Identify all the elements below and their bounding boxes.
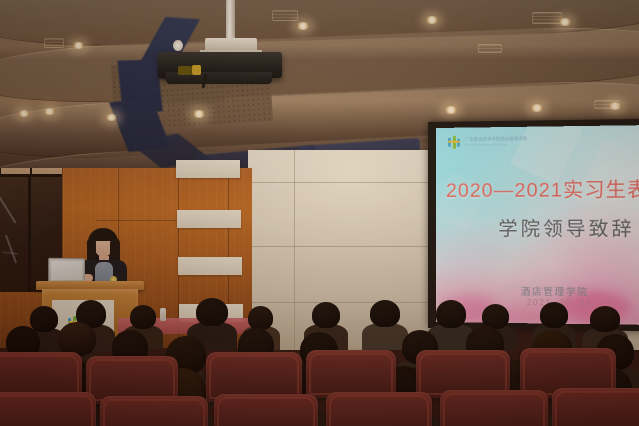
projection-screen[interactable]: 广东职业技术学院酒店管理学院 Hotel Management College … <box>436 125 639 325</box>
beige-wall <box>248 150 440 350</box>
auditorium-seat-rim <box>309 353 393 395</box>
glass-frame <box>0 174 62 177</box>
downlight <box>72 42 85 49</box>
slide-logo-text-en: Hotel Management College <box>465 142 527 147</box>
auditorium-seat-rim <box>329 395 429 426</box>
slide-organization: 酒店管理学院 <box>521 284 589 299</box>
auditorium-seat-rim <box>419 353 507 395</box>
glass-reflection <box>0 189 16 224</box>
ceiling-vent <box>532 12 562 24</box>
wall-seam <box>248 302 440 303</box>
audience-head <box>312 302 340 328</box>
auditorium-seat-rim <box>0 395 93 426</box>
downlight <box>530 104 544 112</box>
wall-seam <box>294 150 295 350</box>
audience-head <box>540 302 568 328</box>
auditorium-photo: 广东职业技术学院酒店管理学院 Hotel Management College … <box>0 0 639 426</box>
downlight <box>18 110 30 117</box>
audience-head <box>58 322 96 356</box>
slide-logo: 广东职业技术学院酒店管理学院 Hotel Management College <box>448 135 527 149</box>
auditorium-seat-rim <box>443 393 545 426</box>
ceiling-vent <box>478 44 502 53</box>
slide-subtitle: 学院领导致辞 <box>498 214 639 242</box>
downlight <box>43 108 56 115</box>
audience-head <box>196 298 228 326</box>
auditorium-seat-rim <box>217 397 315 426</box>
wall-accent-panel <box>177 210 241 228</box>
institution-logo-icon <box>448 136 461 149</box>
downlight <box>444 106 458 114</box>
wall-accent-panel <box>176 160 240 178</box>
downlight <box>192 110 206 118</box>
audience-head <box>130 305 156 329</box>
ceiling-vent <box>272 10 298 21</box>
audience-head <box>590 306 620 332</box>
wall-seam <box>248 246 440 247</box>
auditorium-seat-rim <box>89 359 175 401</box>
audience-head <box>436 300 466 328</box>
downlight <box>296 22 310 30</box>
projector-adjust-knob <box>173 40 183 51</box>
auditorium-seat-rim <box>0 355 79 397</box>
glass-mullion <box>28 174 31 292</box>
wall-seam <box>248 182 440 183</box>
slide-title: 2020—2021实习生表 <box>446 172 639 203</box>
audience-head <box>30 306 58 332</box>
glass-reflection <box>2 251 18 255</box>
water-bottle <box>160 308 166 321</box>
projector-mount-pole <box>226 0 235 42</box>
audience-head <box>370 300 400 327</box>
laptop-screen <box>51 261 82 280</box>
auditorium-seat-rim <box>209 355 299 399</box>
auditorium-seat-rim <box>555 391 639 426</box>
glass-reflection <box>5 235 17 264</box>
audience-head <box>248 306 273 330</box>
downlight <box>105 114 118 121</box>
wall-accent-panel <box>178 257 242 275</box>
auditorium-seat-rim <box>103 399 205 426</box>
downlight <box>425 16 439 24</box>
projector-lens-highlight <box>192 65 201 75</box>
projector-lens <box>178 66 192 75</box>
ceiling-vent <box>594 100 620 109</box>
ceiling-vent <box>44 38 64 48</box>
